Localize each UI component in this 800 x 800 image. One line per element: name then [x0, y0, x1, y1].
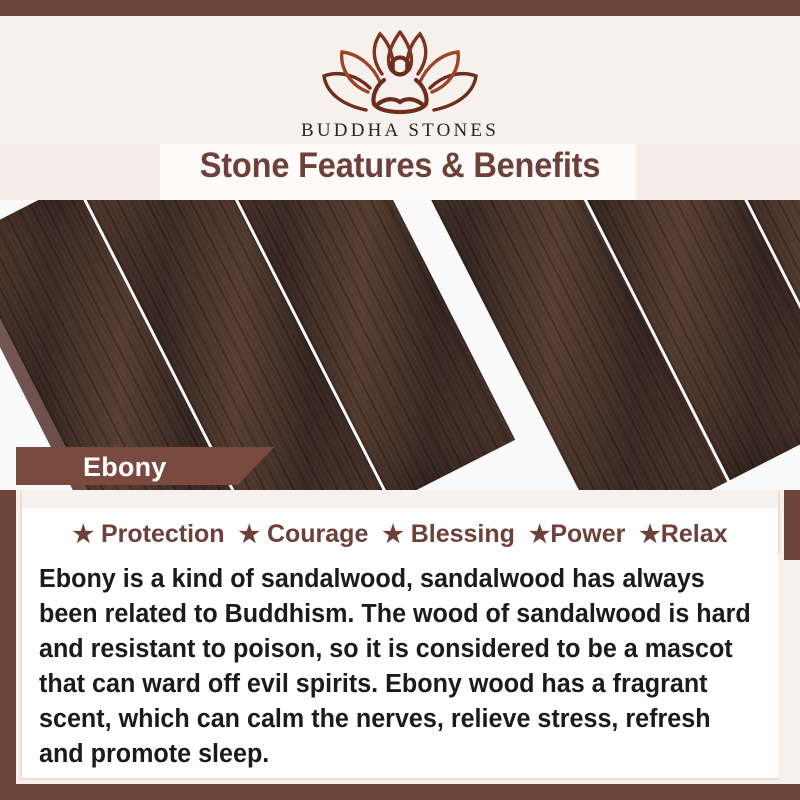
content-panel: ★ Protection ★ Courage ★ Blessing ★Power… [22, 490, 778, 778]
star-icon: ★ [382, 521, 404, 548]
brand-logo: BUDDHA STONES [280, 26, 520, 142]
benefit-item-blessing: ★ Blessing [382, 520, 515, 549]
benefit-label: Blessing [411, 520, 515, 548]
brand-name: BUDDHA STONES [280, 120, 520, 142]
benefit-item-relax: ★Relax [639, 520, 727, 549]
star-icon: ★ [639, 521, 661, 548]
benefit-label: Power [550, 520, 625, 548]
benefits-list: ★ Protection ★ Courage ★ Blessing ★Power… [22, 520, 778, 549]
benefit-item-power: ★Power [529, 520, 626, 549]
content-top-divider [22, 490, 778, 508]
product-label: Ebony [83, 452, 167, 483]
benefit-label: Courage [267, 520, 368, 548]
star-icon: ★ [529, 521, 551, 548]
frame-accent-bottom [20, 778, 780, 780]
star-icon: ★ [72, 521, 94, 548]
star-icon: ★ [238, 521, 260, 548]
page-title: Stone Features & Benefits [28, 146, 772, 186]
brand-header: BUDDHA STONES [0, 16, 800, 144]
product-description: Ebony is a kind of sandalwood, sandalwoo… [39, 562, 754, 772]
benefit-item-protection: ★ Protection [72, 520, 224, 549]
infographic-page: BUDDHA STONES Stone Features & Benefits … [0, 0, 800, 800]
frame-border-bottom [0, 784, 800, 800]
benefit-label: Protection [101, 520, 225, 548]
benefit-item-courage: ★ Courage [238, 520, 368, 549]
benefit-label: Relax [661, 520, 728, 548]
product-photo [0, 200, 800, 490]
frame-border-top [0, 0, 800, 16]
lotus-meditation-figure-icon [310, 26, 490, 118]
